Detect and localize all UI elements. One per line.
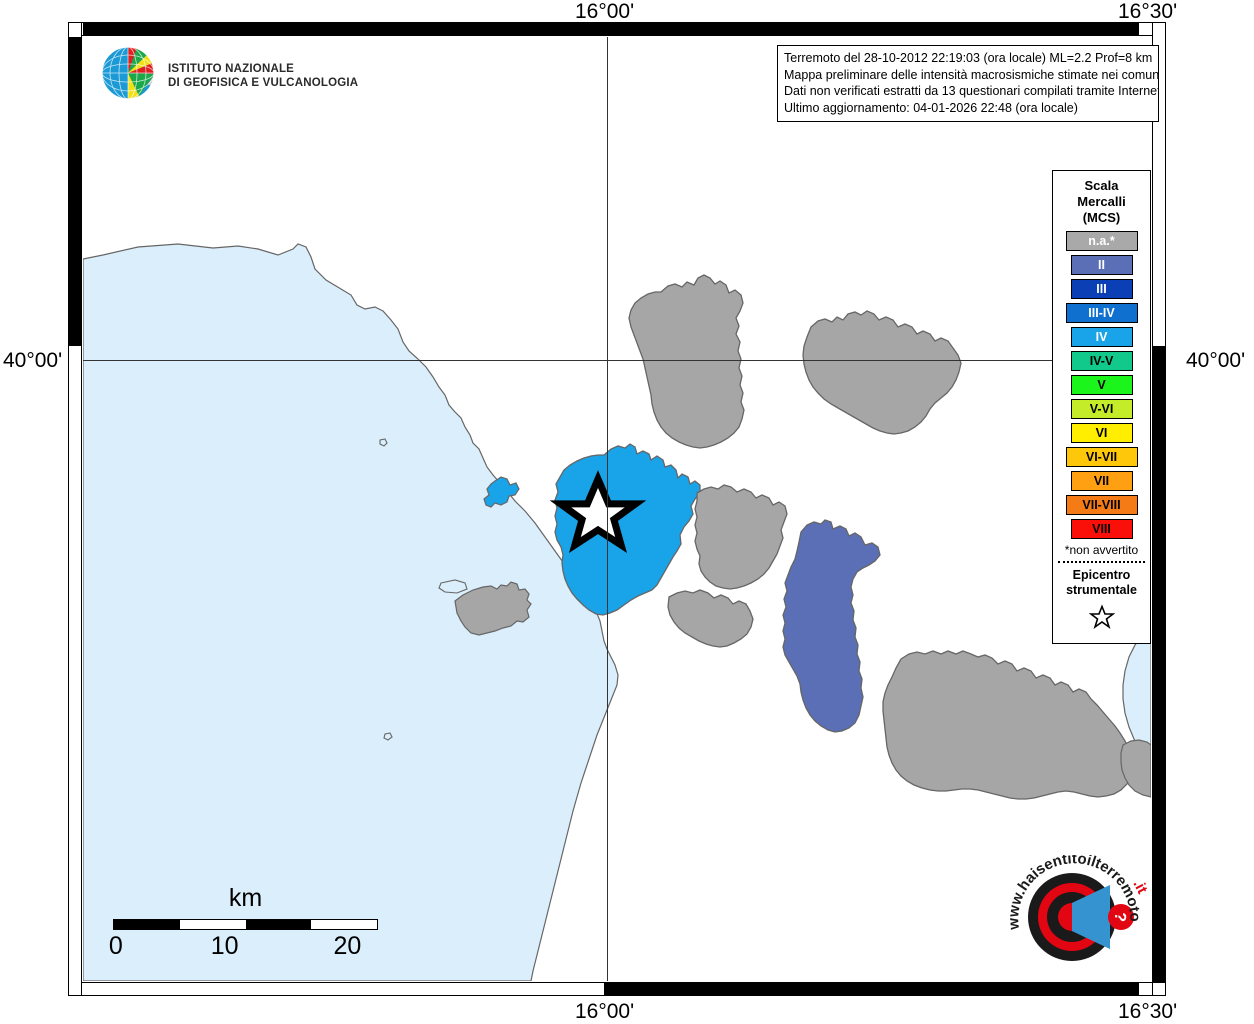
legend-swatch-vii-viii[interactable]: VII-VIII	[1066, 495, 1138, 515]
legend-title-line-2: Mercalli	[1058, 194, 1145, 210]
legend-title-line-3: (MCS)	[1058, 210, 1145, 226]
scale-tick-20: 20	[334, 932, 362, 961]
legend-title-line-1: Scala	[1058, 178, 1145, 194]
legend-divider	[1058, 561, 1145, 563]
ingv-line-2: DI GEOFISICA E VULCANOLOGIA	[168, 76, 358, 90]
legend-swatch-vi[interactable]: VI	[1071, 423, 1133, 443]
legend-swatch-vii[interactable]: VII	[1071, 471, 1133, 491]
ingv-wordmark: ISTITUTO NAZIONALE DI GEOFISICA E VULCAN…	[168, 62, 358, 90]
coord-label-bottom-left-lon: 16°00'	[575, 1000, 634, 1024]
coord-label-right-lat: 40°00'	[1186, 349, 1245, 373]
ingv-globe-icon	[99, 44, 157, 107]
legend-swatch-iii-iv[interactable]: III-IV	[1066, 303, 1138, 323]
scale-tick-0: 0	[109, 932, 123, 961]
legend-swatch-n-a[interactable]: n.a.*	[1066, 231, 1138, 251]
legend-swatch-v[interactable]: V	[1071, 375, 1133, 395]
scale-unit-label: km	[113, 884, 378, 913]
info-line-data: Dati non verificati estratti da 13 quest…	[784, 83, 1153, 100]
legend-swatch-list: n.a.*IIIIIIII-IVIVIV-VVV-VIVIVI-VIIVIIVI…	[1058, 231, 1145, 539]
coord-label-left-lat: 40°00'	[3, 349, 62, 373]
coord-label-top-left-lon: 16°00'	[575, 0, 634, 24]
earthquake-info-box: Terremoto del 28-10-2012 22:19:03 (ora l…	[777, 45, 1159, 122]
legend-swatch-iv-v[interactable]: IV-V	[1071, 351, 1133, 371]
scale-bar-graphic	[113, 919, 378, 930]
legend-swatch-v-vi[interactable]: V-VI	[1071, 399, 1133, 419]
info-line-event: Terremoto del 28-10-2012 22:19:03 (ora l…	[784, 50, 1153, 67]
frame-band-right	[1152, 22, 1166, 996]
legend-epicenter-line-2: strumentale	[1058, 583, 1145, 598]
legend-swatch-vi-vii[interactable]: VI-VII	[1066, 447, 1138, 467]
legend-swatch-ii[interactable]: II	[1071, 255, 1133, 275]
map-canvas[interactable]	[83, 37, 1151, 981]
legend-swatch-iv[interactable]: IV	[1071, 327, 1133, 347]
mercalli-scale-legend: Scala Mercalli (MCS) n.a.*IIIIIIII-IVIVI…	[1052, 170, 1151, 644]
graticule-latitude-40-00	[83, 360, 1151, 361]
coord-label-top-right-lon: 16°30'	[1118, 0, 1177, 24]
legend-swatch-iii[interactable]: III	[1071, 279, 1133, 299]
ingv-line-1: ISTITUTO NAZIONALE	[168, 62, 358, 76]
scale-bar: km 0 10 20	[113, 884, 378, 961]
ingv-logo: ISTITUTO NAZIONALE DI GEOFISICA E VULCAN…	[99, 44, 358, 107]
graticule-longitude-16-00	[607, 37, 608, 981]
frame-band-top	[68, 22, 1166, 36]
frame-band-left	[68, 22, 82, 996]
info-line-updated: Ultimo aggiornamento: 04-01-2026 22:48 (…	[784, 100, 1153, 117]
svg-text:?: ?	[1111, 911, 1129, 922]
haisentitoilterremoto-logo[interactable]: ? www.haisentitoilterremoto x .it	[1002, 855, 1152, 985]
coord-label-bottom-right-lon: 16°30'	[1118, 1000, 1177, 1024]
scale-bar-ticks: 0 10 20	[113, 932, 378, 961]
info-line-map: Mappa preliminare delle intensità macros…	[784, 67, 1153, 84]
legend-epicenter-star-icon	[1058, 604, 1145, 635]
legend-footnote: *non avvertito	[1058, 543, 1145, 557]
scale-tick-10: 10	[211, 932, 239, 961]
legend-epicenter-line-1: Epicentro	[1058, 568, 1145, 583]
legend-swatch-viii[interactable]: VIII	[1071, 519, 1133, 539]
